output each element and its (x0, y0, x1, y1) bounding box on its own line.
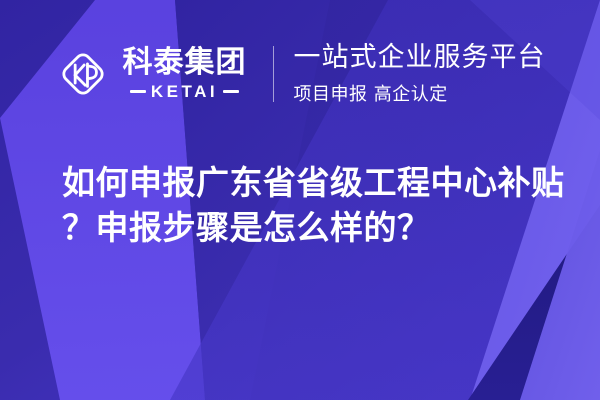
headline-block: 如何申报广东省省级工程中心补贴 ？申报步骤是怎么样的？ (62, 160, 562, 250)
brand-lockup: 科泰集团 KETAI (55, 46, 247, 102)
brand-name-en-row: KETAI (130, 83, 239, 100)
brand-name-en: KETAI (151, 83, 218, 100)
promotional-banner: 科泰集团 KETAI 一站式企业服务平台 项目申报 高企认定 如何申报广东省省级… (0, 0, 600, 400)
brand-rule-left-icon (130, 90, 146, 93)
brand-rule-right-icon (223, 90, 239, 93)
ketai-logo-icon (55, 46, 111, 102)
brand-words: 科泰集团 KETAI (123, 48, 247, 100)
tagline-main: 一站式企业服务平台 (294, 42, 546, 73)
banner-header: 科泰集团 KETAI 一站式企业服务平台 项目申报 高企认定 (0, 0, 600, 148)
header-divider (273, 46, 274, 102)
tagline-sub: 项目申报 高企认定 (294, 80, 546, 106)
tagline-block: 一站式企业服务平台 项目申报 高企认定 (294, 42, 546, 106)
headline-line-1: 如何申报广东省省级工程中心补贴 (62, 160, 562, 205)
brand-name-cn: 科泰集团 (123, 48, 247, 78)
headline-line-2: ？申报步骤是怎么样的？ (62, 205, 562, 250)
